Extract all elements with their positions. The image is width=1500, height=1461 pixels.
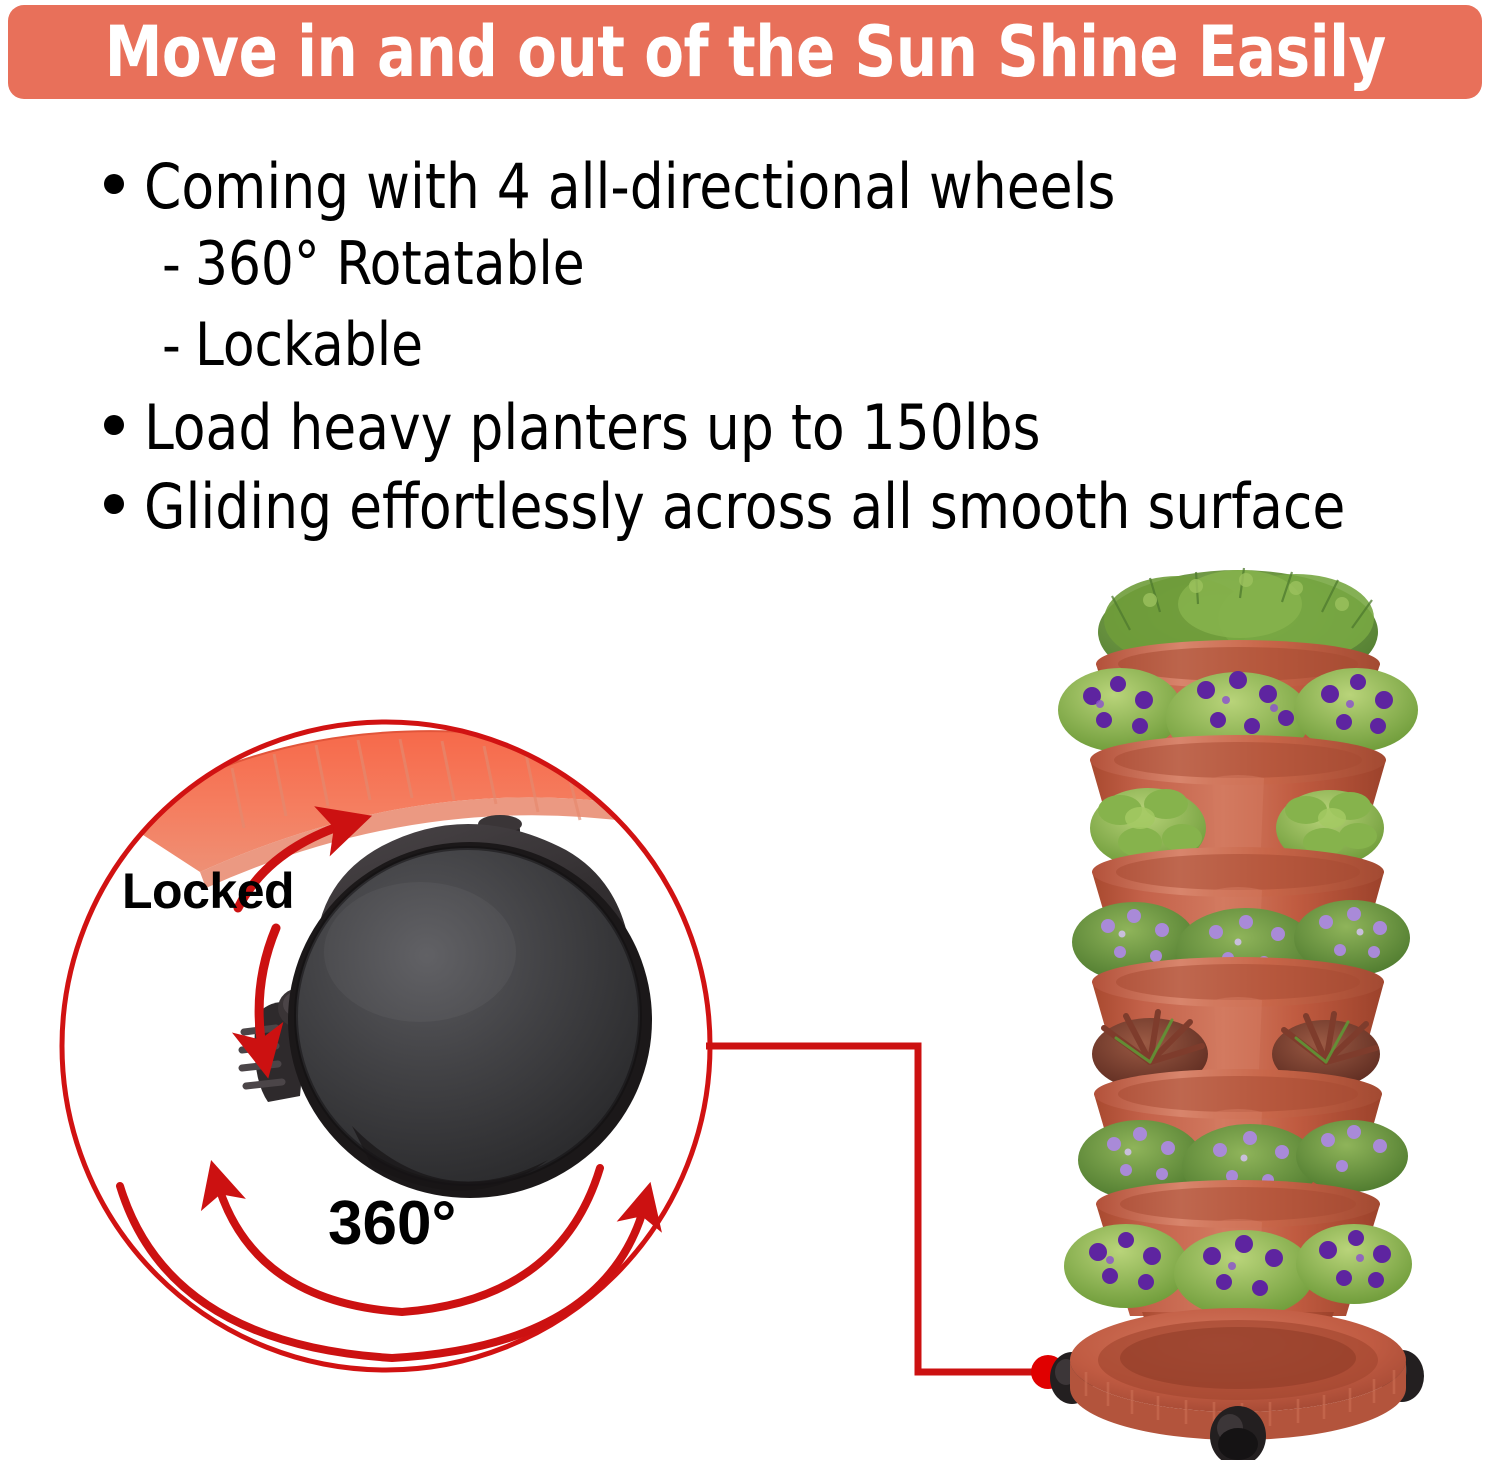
tier-6-flowers (1064, 1224, 1412, 1318)
rotation-label: 360° (328, 1188, 456, 1259)
callout-circle-contents (60, 720, 720, 1380)
planter-tower-illustration (1000, 560, 1470, 1460)
locked-label: Locked (122, 862, 294, 920)
caster-wheel-face (288, 842, 652, 1198)
wheeled-caddy-base (1050, 1308, 1424, 1460)
callout-leader-line (706, 1046, 1046, 1372)
